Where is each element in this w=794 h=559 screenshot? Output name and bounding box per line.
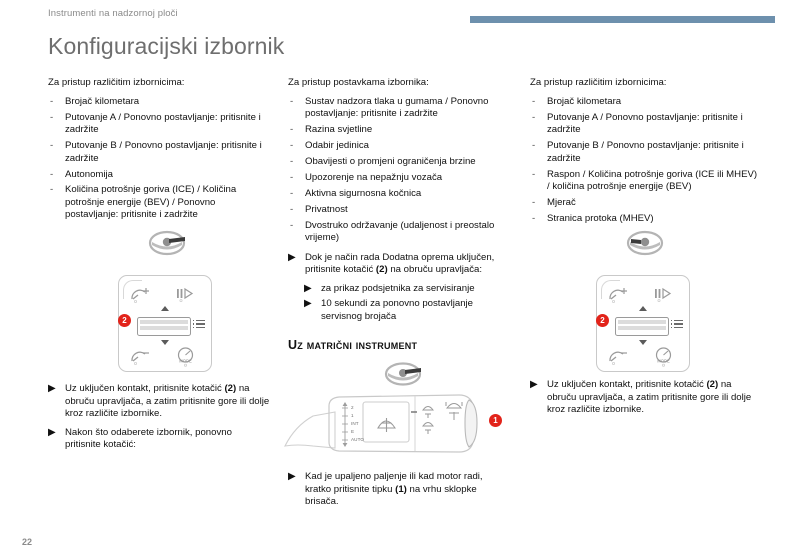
list-item: -Putovanje A / Ponovno postavljanje: pri…: [48, 112, 270, 137]
column-middle-bottom-note: ▶Kad je upaljeno paljenje ili kad motor …: [288, 471, 510, 515]
figure-steering-wheel-right: MODE 2: [578, 230, 718, 370]
list-item-label: Putovanje A / Ponovno postavljanje: prit…: [65, 112, 261, 135]
list-item-label: Brojač kilometara: [65, 96, 139, 107]
stalk-label-e: E: [351, 429, 354, 434]
cruise-set-minus-icon: [608, 349, 630, 365]
list-item: -Putovanje B / Ponovno postavljanje: pri…: [48, 140, 270, 165]
page-title: Konfiguracijski izbornik: [48, 33, 284, 60]
steering-wheel-icon: [145, 230, 189, 258]
display-bar-top: [140, 320, 188, 324]
column-middle-sub-note-list: ▶za prikaz podsjetnika za servisiranje ▶…: [304, 283, 510, 324]
dash-bullet: -: [532, 140, 535, 152]
column-right-list: -Brojač kilometara -Putovanje A / Ponovn…: [530, 96, 762, 225]
note-text: Nakon što odaberete izbornik, ponovno pr…: [65, 427, 232, 451]
thumbwheel-display: [615, 317, 669, 336]
display-bar-top: [618, 320, 666, 324]
dash-bullet: -: [532, 169, 535, 181]
triangle-bullet-icon: ▶: [48, 427, 56, 440]
wiper-stalk-illustration: [283, 390, 513, 462]
list-item: -Brojač kilometara: [48, 96, 270, 108]
list-item-label: Putovanje B / Ponovno postavljanje: prit…: [547, 140, 744, 163]
dash-bullet: -: [50, 112, 53, 124]
steering-control-panel: MODE: [596, 275, 690, 372]
column-middle-note-list: ▶ Dok je način rada Dodatna oprema uklju…: [288, 252, 510, 277]
list-item-label: Raspon / Količina potrošnje goriva (ICE …: [547, 169, 757, 192]
column-right: Za pristup različitim izbornicima: -Broj…: [530, 76, 762, 229]
list-item: -Raspon / Količina potrošnje goriva (ICE…: [530, 169, 762, 194]
steering-wheel-icon: [623, 230, 667, 258]
stalk-label-2: 2: [351, 405, 354, 410]
list-item-label: Upozorenje na nepažnju vozača: [305, 172, 442, 183]
list-item: -Količina potrošnje goriva (ICE) / Količ…: [48, 184, 270, 221]
menu-list-icon: [196, 320, 205, 330]
scroll-down-arrow-icon: [161, 340, 169, 345]
mode-icon: MODE: [176, 347, 198, 367]
triangle-bullet-icon: ▶: [530, 379, 538, 392]
column-left-note-list: ▶Uz uključen kontakt, pritisnite kotačić…: [48, 383, 270, 452]
cruise-set-plus-icon: [608, 287, 630, 303]
list-item-label: Dvostruko održavanje (udaljenost i preos…: [305, 220, 494, 243]
list-item: ▶za prikaz podsjetnika za servisiranje: [304, 283, 510, 296]
list-item: -Putovanje A / Ponovno postavljanje: pri…: [530, 112, 762, 137]
list-item: -Obavijesti o promjeni ograničenja brzin…: [288, 156, 510, 168]
column-right-note: ▶Uz uključen kontakt, pritisnite kotačić…: [530, 379, 762, 423]
dash-bullet: -: [532, 213, 535, 225]
list-item-label: Količina potrošnje goriva (ICE) / Količi…: [65, 184, 236, 220]
column-right-note-list: ▶Uz uključen kontakt, pritisnite kotačić…: [530, 379, 762, 417]
list-item: -Stranica protoka (MHEV): [530, 213, 762, 225]
scroll-up-arrow-icon: [161, 306, 169, 311]
triangle-bullet-icon: ▶: [288, 252, 296, 265]
list-item: -Odabir jedinica: [288, 140, 510, 152]
list-item-label: Aktivna sigurnosna kočnica: [305, 188, 421, 199]
section-label: Instrumenti na nadzornoj ploči: [48, 8, 178, 19]
list-item: ▶Uz uključen kontakt, pritisnite kotačić…: [48, 383, 270, 421]
column-middle-lead: Za pristup postavkama izbornika:: [288, 76, 510, 89]
mode-icon: MODE: [654, 347, 676, 367]
list-item-label: Autonomija: [65, 169, 113, 180]
page-header: Instrumenti na nadzornoj ploči: [0, 0, 794, 26]
triangle-bullet-icon: ▶: [288, 471, 296, 484]
dash-bullet: -: [50, 140, 53, 152]
svg-text:MODE: MODE: [179, 359, 192, 364]
list-item-label: Brojač kilometara: [547, 96, 621, 107]
list-item: -Mjerač: [530, 197, 762, 209]
cruise-set-minus-icon: [130, 349, 152, 365]
column-left-lead: Za pristup različitim izbornicima:: [48, 76, 270, 89]
dash-bullet: -: [532, 112, 535, 124]
cruise-set-plus-icon: [130, 287, 152, 303]
list-item: -Brojač kilometara: [530, 96, 762, 108]
list-item: ▶Kad je upaljeno paljenje ili kad motor …: [288, 471, 510, 509]
dash-bullet: -: [290, 96, 293, 108]
stalk-label-auto: AUTO: [351, 437, 364, 442]
note-text: Uz uključen kontakt, pritisnite kotačić …: [65, 383, 269, 419]
display-bar-bottom: [618, 326, 666, 330]
cruise-pause-icon: [175, 287, 195, 302]
triangle-bullet-icon: ▶: [304, 298, 312, 311]
list-item: -Autonomija: [48, 169, 270, 181]
dash-bullet: -: [50, 169, 53, 181]
column-left-notes: ▶Uz uključen kontakt, pritisnite kotačić…: [48, 383, 270, 458]
column-middle-bottom-note-list: ▶Kad je upaljeno paljenje ili kad motor …: [288, 471, 510, 509]
list-item-label: Obavijesti o promjeni ograničenja brzine: [305, 156, 476, 167]
note-text: 10 sekundi za ponovno postavljanje servi…: [321, 298, 473, 322]
steering-control-panel: MODE: [118, 275, 212, 372]
list-item: -Dvostruko održavanje (udaljenost i preo…: [288, 220, 510, 245]
note-text: Kad je upaljeno paljenje ili kad motor r…: [305, 471, 483, 507]
dash-bullet: -: [290, 204, 293, 216]
column-left: Za pristup različitim izbornicima: -Broj…: [48, 76, 270, 225]
list-item: -Sustav nadzora tlaka u gumama / Ponovno…: [288, 96, 510, 121]
list-item-label: Razina svjetline: [305, 124, 372, 135]
list-item-label: Putovanje A / Ponovno postavljanje: prit…: [547, 112, 743, 135]
callout-badge-1: 1: [489, 414, 502, 427]
list-item-label: Sustav nadzora tlaka u gumama / Ponovno …: [305, 96, 488, 119]
list-item-label: Putovanje B / Ponovno postavljanje: prit…: [65, 140, 262, 163]
list-item: ▶ Dok je način rada Dodatna oprema uklju…: [288, 252, 510, 277]
triangle-bullet-icon: ▶: [48, 383, 56, 396]
scroll-down-arrow-icon: [639, 340, 647, 345]
list-item: ▶10 sekundi za ponovno postavljanje serv…: [304, 298, 510, 323]
figure-steering-wheel-left: MODE 2: [100, 230, 240, 370]
column-left-list: -Brojač kilometara -Putovanje A / Ponovn…: [48, 96, 270, 222]
dash-bullet: -: [290, 188, 293, 200]
list-item: -Aktivna sigurnosna kočnica: [288, 188, 510, 200]
menu-line: [674, 323, 683, 324]
display-bar-bottom: [140, 326, 188, 330]
list-item: -Upozorenje na nepažnju vozača: [288, 172, 510, 184]
dash-bullet: -: [50, 96, 53, 108]
page-number: 22: [22, 537, 32, 547]
dash-bullet: -: [50, 184, 53, 196]
menu-line: [674, 327, 683, 328]
callout-badge-2: 2: [596, 314, 609, 327]
menu-list-icon: [674, 320, 683, 330]
stalk-label-int: INT: [351, 421, 359, 426]
note-text: Uz uključen kontakt, pritisnite kotačić …: [547, 379, 751, 415]
svg-text:MODE: MODE: [657, 359, 670, 364]
list-item: -Privatnost: [288, 204, 510, 216]
menu-line: [196, 327, 205, 328]
dash-bullet: -: [290, 172, 293, 184]
stalk-label-1: 1: [351, 413, 354, 418]
list-item-label: Privatnost: [305, 204, 348, 215]
dash-bullet: -: [290, 156, 293, 168]
thumbwheel-display: [137, 317, 191, 336]
note-text: Dok je način rada Dodatna oprema uključe…: [305, 252, 494, 276]
list-item-label: Odabir jedinica: [305, 140, 369, 151]
figure-wiper-stalk: 2 1 INT E AUTO 1: [283, 362, 533, 467]
column-middle-list: -Sustav nadzora tlaka u gumama / Ponovno…: [288, 96, 510, 245]
cruise-pause-icon: [653, 287, 673, 302]
section-heading-matrix-instrument: Uz matrični instrument: [288, 338, 510, 352]
triangle-bullet-icon: ▶: [304, 283, 312, 296]
header-accent-rule: [470, 16, 775, 23]
dash-bullet: -: [532, 197, 535, 209]
note-text: za prikaz podsjetnika za servisiranje: [321, 283, 475, 294]
dash-bullet: -: [290, 220, 293, 232]
list-item: -Putovanje B / Ponovno postavljanje: pri…: [530, 140, 762, 165]
column-right-lead: Za pristup različitim izbornicima:: [530, 76, 762, 89]
menu-line: [196, 323, 205, 324]
dash-bullet: -: [290, 140, 293, 152]
list-item-label: Mjerač: [547, 197, 576, 208]
list-item: -Razina svjetline: [288, 124, 510, 136]
menu-line: [196, 320, 205, 321]
steering-wheel-icon: [381, 362, 425, 388]
menu-line: [674, 320, 683, 321]
scroll-up-arrow-icon: [639, 306, 647, 311]
list-item: ▶Nakon što odaberete izbornik, ponovno p…: [48, 427, 270, 452]
column-middle: Za pristup postavkama izbornika: -Sustav…: [288, 76, 510, 358]
list-item-label: Stranica protoka (MHEV): [547, 213, 654, 224]
callout-badge-2: 2: [118, 314, 131, 327]
dash-bullet: -: [532, 96, 535, 108]
list-item: ▶Uz uključen kontakt, pritisnite kotačić…: [530, 379, 762, 417]
dash-bullet: -: [290, 124, 293, 136]
